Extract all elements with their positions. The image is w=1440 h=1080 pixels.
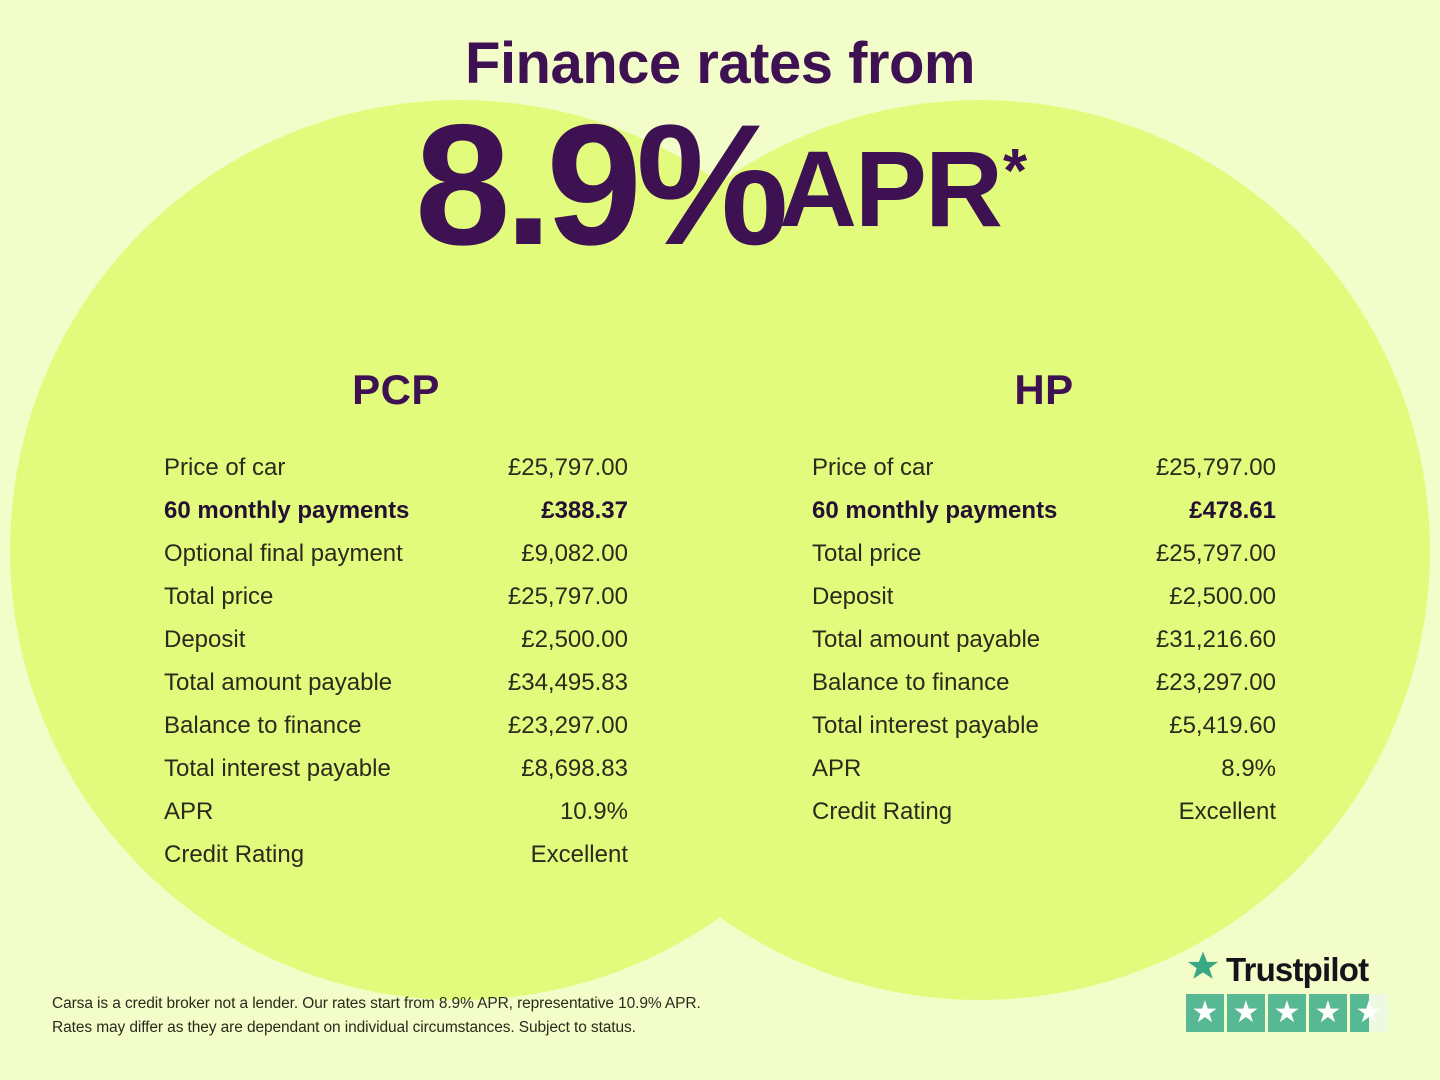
row-label: 60 monthly payments	[812, 499, 1057, 523]
row-label: APR	[812, 757, 861, 781]
disclaimer-line-1: Carsa is a credit broker not a lender. O…	[52, 992, 812, 1016]
star-icon: ★	[1315, 998, 1342, 1028]
table-row: Balance to finance£23,297.00	[146, 714, 646, 757]
row-label: Balance to finance	[164, 714, 361, 738]
row-label: APR	[164, 800, 213, 824]
page-title: Finance rates from	[0, 34, 1440, 95]
plan-title-hp: HP	[794, 366, 1294, 414]
trustpilot-star-3: ★	[1268, 994, 1306, 1032]
row-value: £388.37	[541, 499, 628, 523]
star-icon	[1186, 950, 1220, 988]
rate-unit: APR	[779, 128, 1001, 249]
trustpilot-stars: ★★★★★	[1186, 994, 1392, 1032]
row-value: £23,297.00	[1156, 671, 1276, 695]
plan-rows-hp: Price of car£25,797.0060 monthly payment…	[794, 456, 1294, 843]
table-row: APR10.9%	[146, 800, 646, 843]
row-value: £9,082.00	[521, 542, 628, 566]
table-row: Total amount payable£34,495.83	[146, 671, 646, 714]
trustpilot-rating: Trustpilot ★★★★★	[1186, 950, 1392, 1032]
trustpilot-wordmark-text: Trustpilot	[1226, 953, 1368, 986]
table-row: Total amount payable£31,216.60	[794, 628, 1294, 671]
row-value: £23,297.00	[508, 714, 628, 738]
row-label: Price of car	[164, 456, 285, 480]
table-row: 60 monthly payments£388.37	[146, 499, 646, 542]
row-label: Total price	[812, 542, 921, 566]
table-row: Total interest payable£5,419.60	[794, 714, 1294, 757]
header: Finance rates from 8.9%APR*	[0, 0, 1440, 271]
row-label: Price of car	[812, 456, 933, 480]
row-value: Excellent	[1179, 800, 1276, 824]
row-value: £5,419.60	[1169, 714, 1276, 738]
table-row: Price of car£25,797.00	[794, 456, 1294, 499]
star-icon: ★	[1233, 998, 1260, 1028]
row-value: £34,495.83	[508, 671, 628, 695]
table-row: 60 monthly payments£478.61	[794, 499, 1294, 542]
row-value: 10.9%	[560, 800, 628, 824]
row-label: Total price	[164, 585, 273, 609]
row-value: £31,216.60	[1156, 628, 1276, 652]
row-label: Optional final payment	[164, 542, 403, 566]
row-value: £2,500.00	[521, 628, 628, 652]
table-row: Total price£25,797.00	[794, 542, 1294, 585]
trustpilot-star-1: ★	[1186, 994, 1224, 1032]
star-icon: ★	[1274, 998, 1301, 1028]
row-label: 60 monthly payments	[164, 499, 409, 523]
row-value: £2,500.00	[1169, 585, 1276, 609]
table-row: Balance to finance£23,297.00	[794, 671, 1294, 714]
table-row: Price of car£25,797.00	[146, 456, 646, 499]
table-row: Optional final payment£9,082.00	[146, 542, 646, 585]
row-value: 8.9%	[1221, 757, 1276, 781]
row-label: Credit Rating	[164, 843, 304, 867]
row-label: Deposit	[812, 585, 893, 609]
trustpilot-logo: Trustpilot	[1186, 950, 1392, 988]
table-row: Credit RatingExcellent	[146, 843, 646, 886]
trustpilot-star-5: ★	[1350, 994, 1388, 1032]
star-icon: ★	[1356, 998, 1383, 1028]
plan-column-hp: HP Price of car£25,797.0060 monthly paym…	[794, 366, 1294, 886]
row-value: £8,698.83	[521, 757, 628, 781]
table-row: Credit RatingExcellent	[794, 800, 1294, 843]
headline-rate: 8.9%APR*	[0, 99, 1440, 271]
disclaimer: Carsa is a credit broker not a lender. O…	[52, 992, 812, 1040]
row-label: Deposit	[164, 628, 245, 652]
table-row: Total interest payable£8,698.83	[146, 757, 646, 800]
table-row: Deposit£2,500.00	[794, 585, 1294, 628]
plan-title-pcp: PCP	[146, 366, 646, 414]
poster-content: Finance rates from 8.9%APR* PCP Price of…	[0, 0, 1440, 1080]
table-row: Total price£25,797.00	[146, 585, 646, 628]
row-label: Total amount payable	[812, 628, 1040, 652]
star-icon: ★	[1192, 998, 1219, 1028]
disclaimer-line-2: Rates may differ as they are dependant o…	[52, 1016, 812, 1040]
row-label: Total amount payable	[164, 671, 392, 695]
rate-value: 8.9%	[415, 89, 783, 281]
plan-column-pcp: PCP Price of car£25,797.0060 monthly pay…	[146, 366, 646, 886]
row-value: £25,797.00	[508, 456, 628, 480]
row-label: Balance to finance	[812, 671, 1009, 695]
row-value: £25,797.00	[1156, 542, 1276, 566]
trustpilot-star-4: ★	[1309, 994, 1347, 1032]
plan-rows-pcp: Price of car£25,797.0060 monthly payment…	[146, 456, 646, 886]
row-label: Total interest payable	[164, 757, 391, 781]
table-row: Deposit£2,500.00	[146, 628, 646, 671]
row-value: Excellent	[531, 843, 628, 867]
row-label: Credit Rating	[812, 800, 952, 824]
plan-comparison: PCP Price of car£25,797.0060 monthly pay…	[0, 366, 1440, 886]
row-value: £25,797.00	[1156, 456, 1276, 480]
table-row: APR8.9%	[794, 757, 1294, 800]
row-value: £25,797.00	[508, 585, 628, 609]
row-label: Total interest payable	[812, 714, 1039, 738]
trustpilot-star-2: ★	[1227, 994, 1265, 1032]
row-value: £478.61	[1189, 499, 1276, 523]
rate-asterisk: *	[1003, 137, 1027, 206]
